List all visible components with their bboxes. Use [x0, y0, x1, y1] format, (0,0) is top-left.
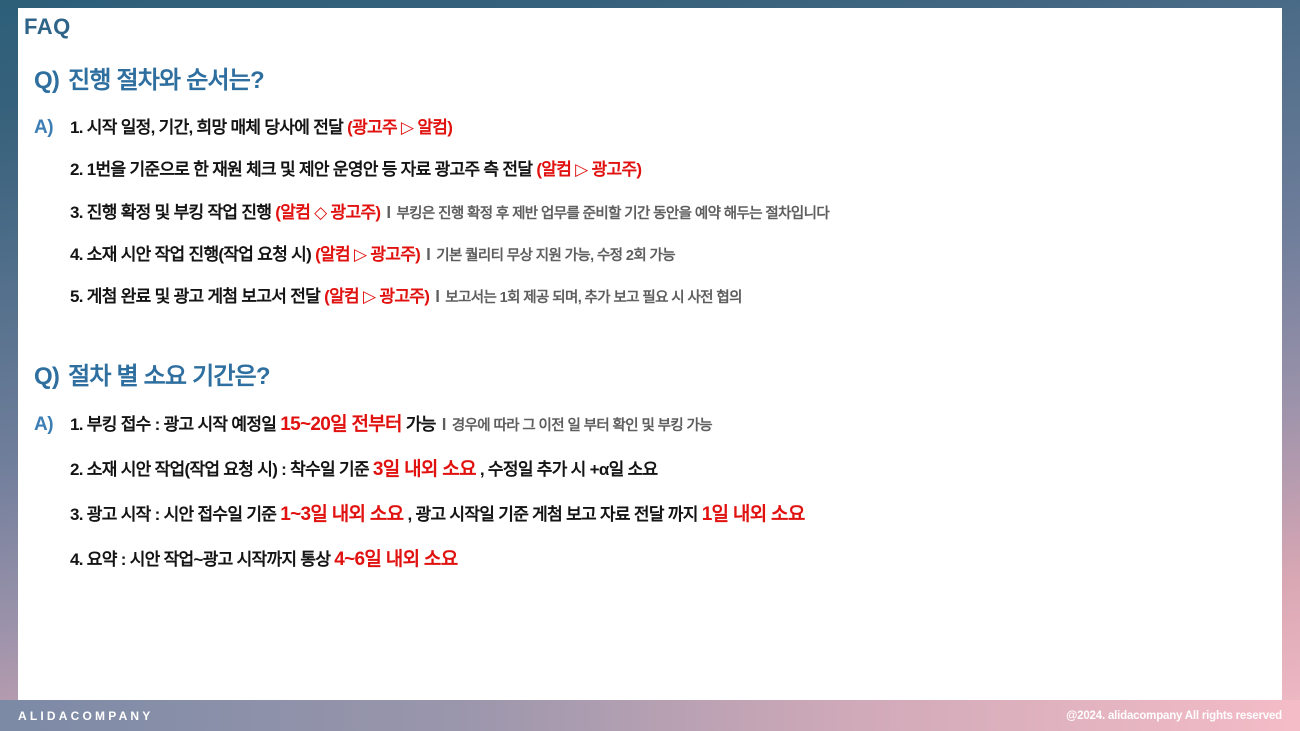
item-main-text: 3. 진행 확정 및 부킹 작업 진행 — [70, 203, 271, 222]
item-highlight-text-2: 1일 내외 소요 — [702, 504, 805, 525]
item-separator: l — [384, 203, 392, 222]
list-item: 3. 진행 확정 및 부킹 작업 진행 (알컴 ◇ 광고주) l 부킹은 진행 … — [70, 202, 1262, 223]
item-paren-text: (광고주 ▷ 알컴) — [347, 118, 452, 137]
copyright-text: @2024. alidacompany All rights reserved — [1066, 710, 1282, 722]
item-pre-text: 2. 소재 시안 작업(작업 요청 시) : 착수일 기준 — [70, 460, 373, 479]
answer-1-marker: A) — [34, 117, 60, 139]
item-highlight-text: 1~3일 내외 소요 — [280, 504, 403, 525]
item-note-text: 경우에 따라 그 이전 일 부터 확인 및 부킹 가능 — [452, 418, 712, 434]
qa-block-1: Q) 진행 절차와 순서는? A) 1. 시작 일정, 기간, 희망 매체 당사… — [34, 60, 1262, 307]
item-pre-text: 1. 부킹 접수 : 광고 시작 예정일 — [70, 415, 280, 434]
meta-category: category. 시설내부광고 — [1005, 8, 1150, 32]
meta-category-label: category. — [1005, 15, 1059, 30]
list-item: 1. 부킹 접수 : 광고 시작 예정일 15~20일 전부터 가능 l 경우에… — [70, 413, 1262, 437]
item-main-text: 4. 소재 시안 작업 진행(작업 요청 시) — [70, 245, 311, 264]
answer-2-marker: A) — [34, 414, 60, 436]
page-title: FAQ — [24, 14, 71, 40]
item-main-text: 1. 시작 일정, 기간, 희망 매체 당사에 전달 — [70, 118, 343, 137]
item-paren-text: (알컴 ◇ 광고주) — [275, 203, 380, 222]
item-mid-text: , 광고 시작일 기준 게첨 보고 자료 전달 까지 — [407, 505, 701, 524]
meta-media-value: 쇼핑몰광고 — [1211, 8, 1282, 32]
item-note-text: 보고서는 1회 제공 되며, 추가 보고 필요 시 사전 협의 — [445, 290, 742, 306]
meta-media-label: media. — [1166, 15, 1205, 30]
answer-2-body: 1. 부킹 접수 : 광고 시작 예정일 15~20일 전부터 가능 l 경우에… — [70, 413, 1262, 571]
list-item: 4. 요약 : 시안 작업~광고 시작까지 통상 4~6일 내외 소요 — [70, 548, 1262, 572]
section-spacer — [34, 328, 1262, 356]
item-separator: l — [433, 287, 441, 306]
answer-1: A) 1. 시작 일정, 기간, 희망 매체 당사에 전달 (광고주 ▷ 알컴)… — [34, 117, 1262, 307]
meta-category-value: 시설내부광고 — [1065, 8, 1150, 32]
question-2-marker: Q) — [34, 363, 59, 391]
item-paren-text: (알컴 ▷ 광고주) — [536, 160, 641, 179]
slide-meta-band: category. 시설내부광고 media. 쇼핑몰광고 — [1005, 0, 1300, 40]
list-item: 2. 1번을 기준으로 한 재원 체크 및 제안 운영안 등 자료 광고주 측 … — [70, 159, 1262, 180]
question-2-text: 절차 별 소요 기간은? — [68, 356, 270, 391]
list-item: 4. 소재 시안 작업 진행(작업 요청 시) (알컴 ▷ 광고주) l 기본 … — [70, 244, 1262, 265]
item-main-text: 5. 게첨 완료 및 광고 게첨 보고서 전달 — [70, 287, 320, 306]
faq-content: Q) 진행 절차와 순서는? A) 1. 시작 일정, 기간, 희망 매체 당사… — [18, 52, 1282, 700]
answer-2: A) 1. 부킹 접수 : 광고 시작 예정일 15~20일 전부터 가능 l … — [34, 413, 1262, 571]
item-pre-text: 3. 광고 시작 : 시안 접수일 기준 — [70, 505, 280, 524]
item-main-text: 2. 1번을 기준으로 한 재원 체크 및 제안 운영안 등 자료 광고주 측 … — [70, 160, 532, 179]
item-highlight-text: 15~20일 전부터 — [280, 414, 402, 435]
item-note-text: 부킹은 진행 확정 후 제반 업무를 준비할 기간 동안을 예약 해두는 절차입… — [396, 206, 829, 222]
item-highlight-text: 3일 내외 소요 — [373, 459, 476, 480]
question-1: Q) 진행 절차와 순서는? — [34, 60, 1262, 95]
list-item: 5. 게첨 완료 및 광고 게첨 보고서 전달 (알컴 ▷ 광고주) l 보고서… — [70, 286, 1262, 307]
item-paren-text: (알컴 ▷ 광고주) — [315, 245, 420, 264]
item-pre-text: 4. 요약 : 시안 작업~광고 시작까지 통상 — [70, 550, 334, 569]
item-note-text: 기본 퀄리티 무상 지원 가능, 수정 2회 가능 — [436, 248, 675, 264]
qa-block-2: Q) 절차 별 소요 기간은? A) 1. 부킹 접수 : 광고 시작 예정일 … — [34, 356, 1262, 571]
item-paren-text: (알컴 ▷ 광고주) — [324, 287, 429, 306]
answer-1-body: 1. 시작 일정, 기간, 희망 매체 당사에 전달 (광고주 ▷ 알컴) 2.… — [70, 117, 1262, 307]
item-separator: l — [424, 245, 432, 264]
company-logo-text: ALIDACOMPANY — [18, 709, 154, 723]
question-1-text: 진행 절차와 순서는? — [68, 60, 264, 95]
item-separator: l — [440, 415, 448, 434]
meta-media: media. 쇼핑몰광고 — [1166, 8, 1282, 32]
item-highlight-text: 4~6일 내외 소요 — [334, 549, 457, 570]
list-item: 2. 소재 시안 작업(작업 요청 시) : 착수일 기준 3일 내외 소요 ,… — [70, 458, 1262, 482]
item-mid-text: 가능 — [406, 415, 436, 434]
item-mid-text: , 수정일 추가 시 +α일 소요 — [480, 460, 658, 479]
question-2: Q) 절차 별 소요 기간은? — [34, 356, 1262, 391]
question-1-marker: Q) — [34, 67, 59, 95]
list-item: 1. 시작 일정, 기간, 희망 매체 당사에 전달 (광고주 ▷ 알컴) — [70, 117, 1262, 138]
list-item: 3. 광고 시작 : 시안 접수일 기준 1~3일 내외 소요 , 광고 시작일… — [70, 503, 1262, 527]
slide-footer: ALIDACOMPANY @2024. alidacompany All rig… — [0, 700, 1300, 731]
